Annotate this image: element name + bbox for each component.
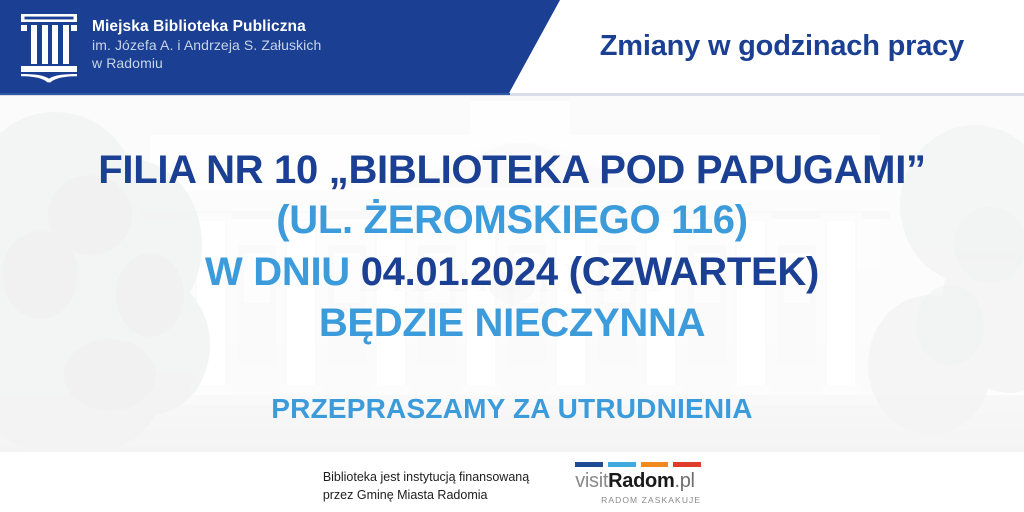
org-name: Miejska Biblioteka Publiczna: [92, 17, 321, 37]
poster-footer: Biblioteka jest instytucją finansowaną p…: [0, 452, 1024, 512]
library-logo-text: Miejska Biblioteka Publiczna im. Józefa …: [92, 12, 321, 73]
announcement-address: (UL. ŻEROMSKIEGO 116): [0, 200, 1024, 240]
org-city: w Radomiu: [92, 55, 321, 73]
color-bar-red: [673, 462, 701, 467]
header-divider-accent: [0, 93, 510, 95]
announcement-branch-name: FILIA NR 10 „BIBLIOTEKA POD PAPUGAMI”: [0, 150, 1024, 190]
announcement-apology: PRZEPRASZAMY ZA UTRUDNIENIA: [0, 395, 1024, 423]
library-columns-book-icon: [18, 12, 80, 84]
announcement-date-value: 04.01.2024 (CZWARTEK): [361, 250, 819, 294]
poster-header: Miejska Biblioteka Publiczna im. Józefa …: [0, 0, 1024, 95]
visitradom-name: Radom: [608, 470, 674, 492]
funding-line-1: Biblioteka jest instytucją finansowaną: [323, 468, 529, 486]
announcement-date-prefix: W DNIU: [205, 250, 350, 294]
announcement-date-line: W DNIU 04.01.2024 (CZWARTEK): [0, 252, 1024, 292]
banner-title: Zmiany w godzinach pracy: [600, 30, 964, 63]
visitradom-tld: .pl: [674, 470, 694, 492]
color-bar-orange: [641, 462, 669, 467]
color-bar-navy: [575, 462, 603, 467]
announcement-block: FILIA NR 10 „BIBLIOTEKA POD PAPUGAMI” (U…: [0, 95, 1024, 452]
visitradom-tagline: RADOM ZASKAKUJE: [575, 495, 701, 505]
org-patron: im. Józefa A. i Andrzeja S. Załuskich: [92, 37, 321, 55]
visitradom-prefix: visit: [575, 470, 608, 492]
poster-canvas: BIBLIOTEKA FILIA NR 10 „BIBLIOTEKA POD P…: [0, 0, 1024, 512]
visitradom-logo[interactable]: visitRadom.pl RADOM ZASKAKUJE: [575, 462, 701, 505]
funding-statement: Biblioteka jest instytucją finansowaną p…: [323, 462, 529, 504]
visitradom-wordmark: visitRadom.pl: [575, 471, 701, 491]
visitradom-color-bars: [575, 462, 701, 467]
announcement-status: BĘDZIE NIECZYNNA: [0, 303, 1024, 343]
color-bar-blue: [608, 462, 636, 467]
funding-line-2: przez Gminę Miasta Radomia: [323, 486, 529, 504]
library-logo[interactable]: Miejska Biblioteka Publiczna im. Józefa …: [18, 12, 321, 84]
